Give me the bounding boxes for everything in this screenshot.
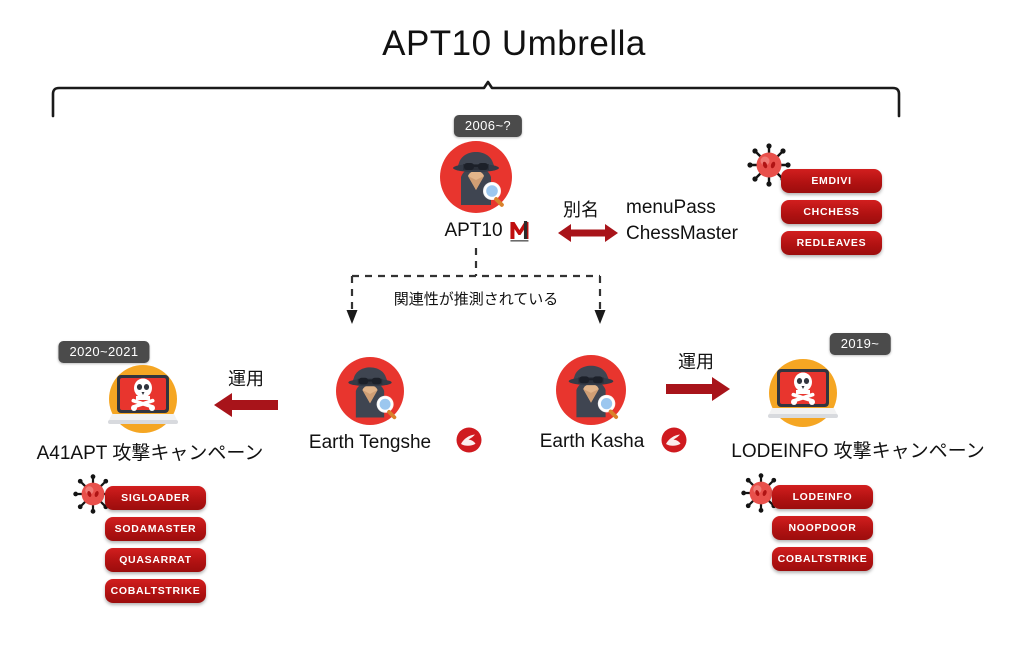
alias-caption: 別名: [563, 196, 599, 222]
malware-chip[interactable]: SODAMASTER: [105, 517, 206, 541]
malware-chip[interactable]: NOOPDOOR: [772, 516, 873, 540]
apt10-malware-list: EMDIVI CHCHESS REDLEAVES: [781, 169, 882, 255]
malware-chip[interactable]: COBALTSTRIKE: [772, 547, 873, 571]
lodeinfo-label: LODEINFO 攻撃キャンペーン: [731, 436, 984, 463]
earth-tengshe-label: Earth Tengshe: [309, 432, 431, 454]
malware-chip[interactable]: COBALTSTRIKE: [105, 579, 206, 603]
lodeinfo-malware-list: LODEINFO NOOPDOOR COBALTSTRIKE: [772, 485, 873, 571]
malware-chip[interactable]: EMDIVI: [781, 169, 882, 193]
page-title: APT10 Umbrella: [0, 24, 1028, 64]
operate-right-caption: 運用: [678, 348, 714, 374]
apt10-period-badge: 2006~?: [454, 115, 522, 137]
earth-kasha-label: Earth Kasha: [540, 431, 645, 453]
diagram-canvas: APT10 Umbrella 2006~?: [0, 0, 1028, 647]
operate-left-caption: 運用: [228, 365, 264, 391]
umbrella-bracket: [50, 84, 902, 118]
lodeinfo-period-badge: 2019~: [830, 333, 891, 355]
earth-kasha-avatar: [556, 355, 626, 425]
malware-chip[interactable]: LODEINFO: [772, 485, 873, 509]
alias-names: menuPass ChessMaster: [626, 195, 738, 246]
inferred-relation-caption: 関連性が推測されている: [394, 288, 559, 309]
operate-left-arrow-icon: [214, 392, 278, 418]
alias-double-arrow-icon: [558, 222, 618, 244]
a41apt-avatar: [106, 362, 180, 436]
a41apt-period-badge: 2020~2021: [58, 341, 149, 363]
a41apt-malware-list: SIGLOADER SODAMASTER QUASARRAT COBALTSTR…: [105, 486, 206, 603]
mitre-attack-m-logo-icon: [510, 219, 532, 243]
apt10-label-group: APT10: [444, 219, 531, 243]
malware-chip[interactable]: CHCHESS: [781, 200, 882, 224]
malware-chip[interactable]: QUASARRAT: [105, 548, 206, 572]
trend-micro-logo-icon: [456, 427, 482, 453]
apt10-label: APT10: [444, 220, 502, 242]
trend-micro-logo-icon: [661, 427, 687, 453]
malware-chip[interactable]: REDLEAVES: [781, 231, 882, 255]
alias-name-0: menuPass: [626, 195, 738, 221]
apt10-avatar: [440, 141, 512, 213]
a41apt-label: A41APT 攻撃キャンペーン: [37, 438, 264, 465]
malware-chip[interactable]: SIGLOADER: [105, 486, 206, 510]
lodeinfo-avatar: [766, 356, 840, 430]
operate-right-arrow-icon: [666, 376, 730, 402]
earth-tengshe-avatar: [336, 357, 404, 425]
alias-name-1: ChessMaster: [626, 221, 738, 247]
